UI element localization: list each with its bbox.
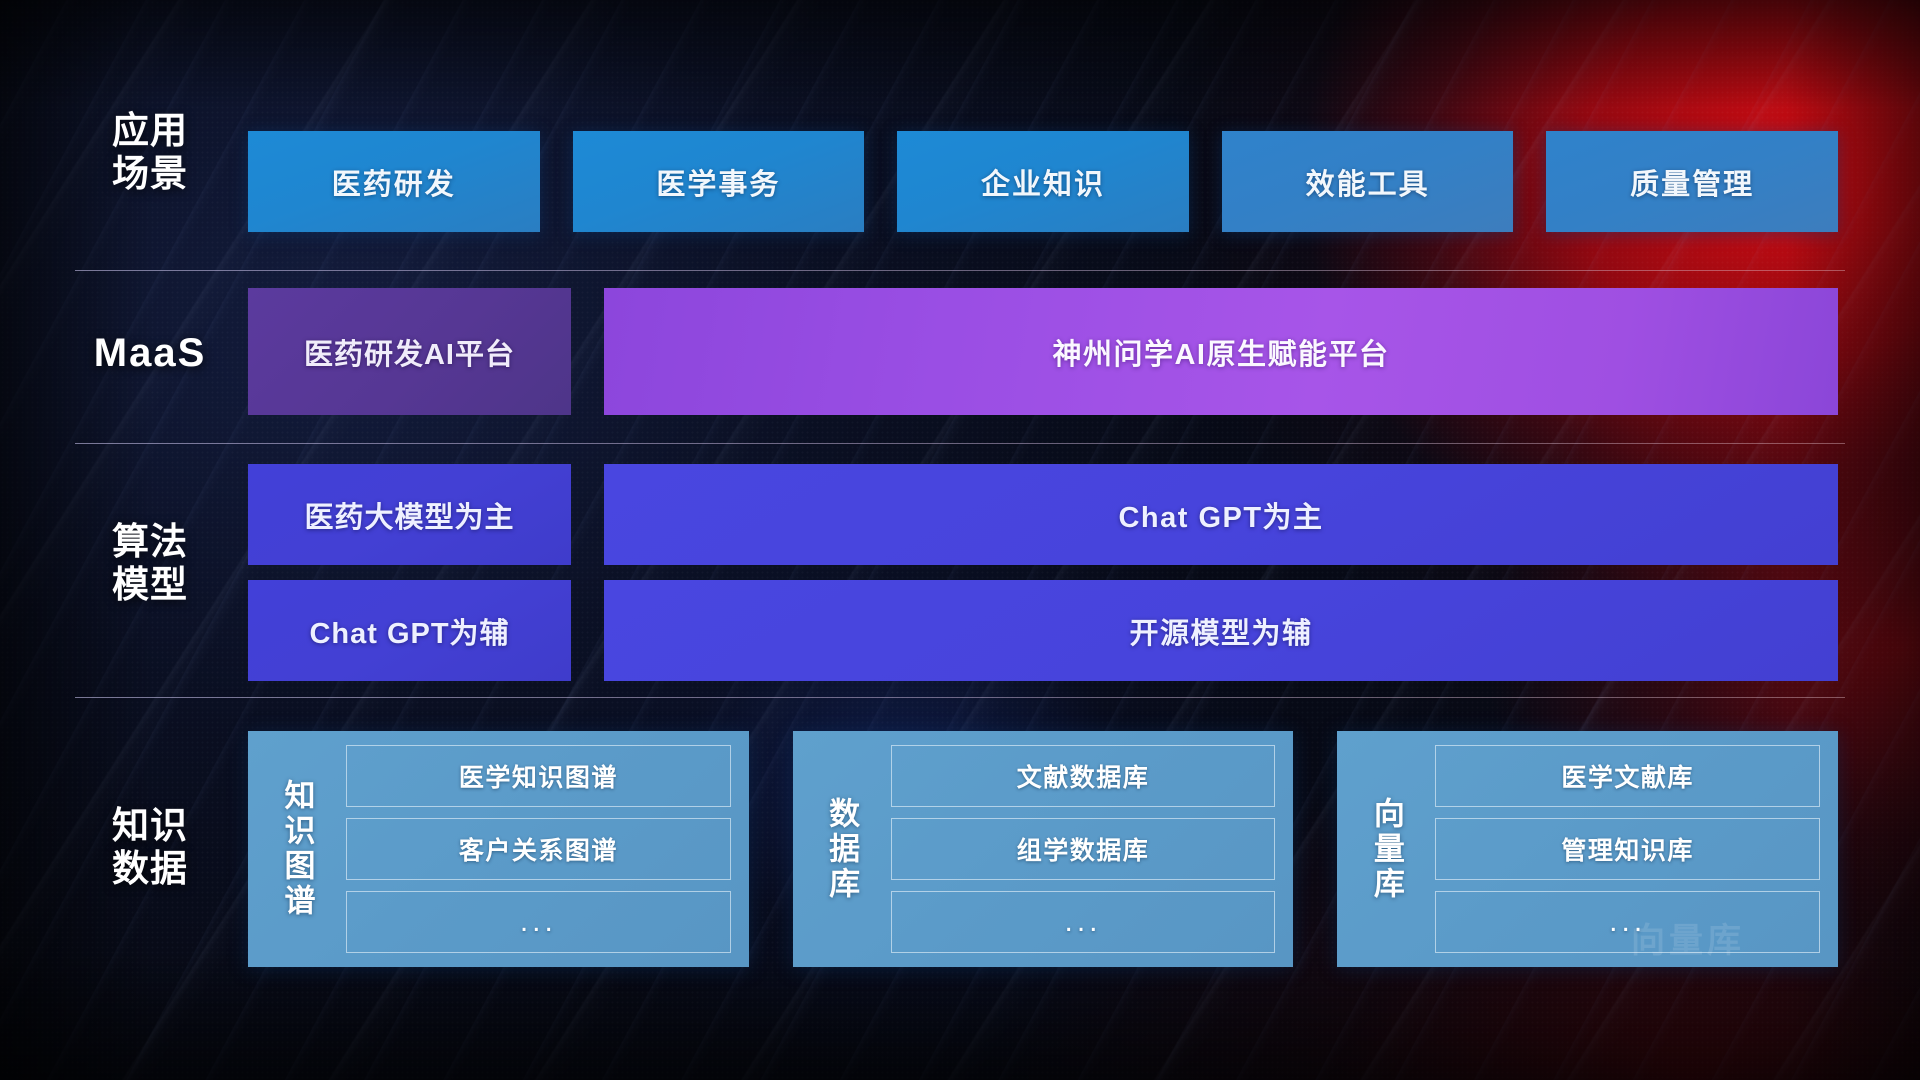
knowledge-item-more[interactable]: ... <box>1435 891 1820 953</box>
algorithm-row-primary: 医药大模型为主 Chat GPT为主 <box>248 464 1838 565</box>
app-box-enterprise-knowledge[interactable]: 企业知识 <box>897 131 1189 232</box>
row-label-line-2: 数据 <box>75 848 225 891</box>
knowledge-card-vertical-label: 向量库 <box>1351 745 1421 953</box>
divider-algorithm-knowledge <box>75 697 1845 698</box>
row-label-maas: MaaS <box>75 330 225 376</box>
row-label-line-1: 应用 <box>75 110 225 153</box>
knowledge-card-vector-database[interactable]: 向量库 医学文献库 管理知识库 ... <box>1337 731 1838 967</box>
knowledge-item-management-knowledge-base[interactable]: 管理知识库 <box>1435 818 1820 880</box>
maas-box-shenzhou-ai-platform[interactable]: 神州问学AI原生赋能平台 <box>604 288 1838 415</box>
row-label-line-1: 算法 <box>75 521 225 564</box>
knowledge-card-item-list: 文献数据库 组学数据库 ... <box>877 745 1276 953</box>
knowledge-card-vertical-label: 数据库 <box>807 745 877 953</box>
algo-box-opensource-secondary[interactable]: 开源模型为辅 <box>604 580 1838 681</box>
knowledge-item-omics-database[interactable]: 组学数据库 <box>891 818 1276 880</box>
algo-box-medicine-llm-primary[interactable]: 医药大模型为主 <box>248 464 571 565</box>
knowledge-item-more[interactable]: ... <box>346 891 731 953</box>
knowledge-item-medical-literature-library[interactable]: 医学文献库 <box>1435 745 1820 807</box>
application-scenario-row: 医药研发 医学事务 企业知识 效能工具 质量管理 <box>248 131 1838 232</box>
maas-row: 医药研发AI平台 神州问学AI原生赋能平台 <box>248 288 1838 415</box>
divider-maas-algorithm <box>75 443 1845 444</box>
knowledge-card-database[interactable]: 数据库 文献数据库 组学数据库 ... <box>793 731 1294 967</box>
app-box-quality-management[interactable]: 质量管理 <box>1546 131 1838 232</box>
knowledge-card-item-list: 医学知识图谱 客户关系图谱 ... <box>332 745 731 953</box>
slide-canvas: 应用 场景 医药研发 医学事务 企业知识 效能工具 质量管理 MaaS 医药研发… <box>0 0 1920 1080</box>
app-box-medicine-rnd[interactable]: 医药研发 <box>248 131 540 232</box>
app-box-medical-affairs[interactable]: 医学事务 <box>573 131 865 232</box>
row-label-application-scenario: 应用 场景 <box>75 110 225 196</box>
row-label-line-2: 模型 <box>75 564 225 607</box>
app-box-efficiency-tools[interactable]: 效能工具 <box>1222 131 1514 232</box>
row-label-line-1: 知识 <box>75 805 225 848</box>
row-label-algorithm-model: 算法 模型 <box>75 521 225 607</box>
diagram-content: 应用 场景 医药研发 医学事务 企业知识 效能工具 质量管理 MaaS 医药研发… <box>0 0 1920 1080</box>
knowledge-item-medical-knowledge-graph[interactable]: 医学知识图谱 <box>346 745 731 807</box>
knowledge-item-more[interactable]: ... <box>891 891 1276 953</box>
knowledge-item-customer-relation-graph[interactable]: 客户关系图谱 <box>346 818 731 880</box>
row-label-knowledge-data: 知识 数据 <box>75 805 225 891</box>
algo-box-chatgpt-secondary[interactable]: Chat GPT为辅 <box>248 580 571 681</box>
knowledge-data-row: 知识图谱 医学知识图谱 客户关系图谱 ... 数据库 文献数据库 组学数据库 .… <box>248 731 1838 967</box>
algorithm-row-secondary: Chat GPT为辅 开源模型为辅 <box>248 580 1838 681</box>
maas-box-medicine-ai-platform[interactable]: 医药研发AI平台 <box>248 288 571 415</box>
knowledge-card-knowledge-graph[interactable]: 知识图谱 医学知识图谱 客户关系图谱 ... <box>248 731 749 967</box>
row-label-line-2: 场景 <box>75 153 225 196</box>
divider-application-maas <box>75 270 1845 271</box>
knowledge-card-item-list: 医学文献库 管理知识库 ... <box>1421 745 1820 953</box>
algo-box-chatgpt-primary[interactable]: Chat GPT为主 <box>604 464 1838 565</box>
knowledge-item-literature-database[interactable]: 文献数据库 <box>891 745 1276 807</box>
knowledge-card-vertical-label: 知识图谱 <box>262 745 332 953</box>
